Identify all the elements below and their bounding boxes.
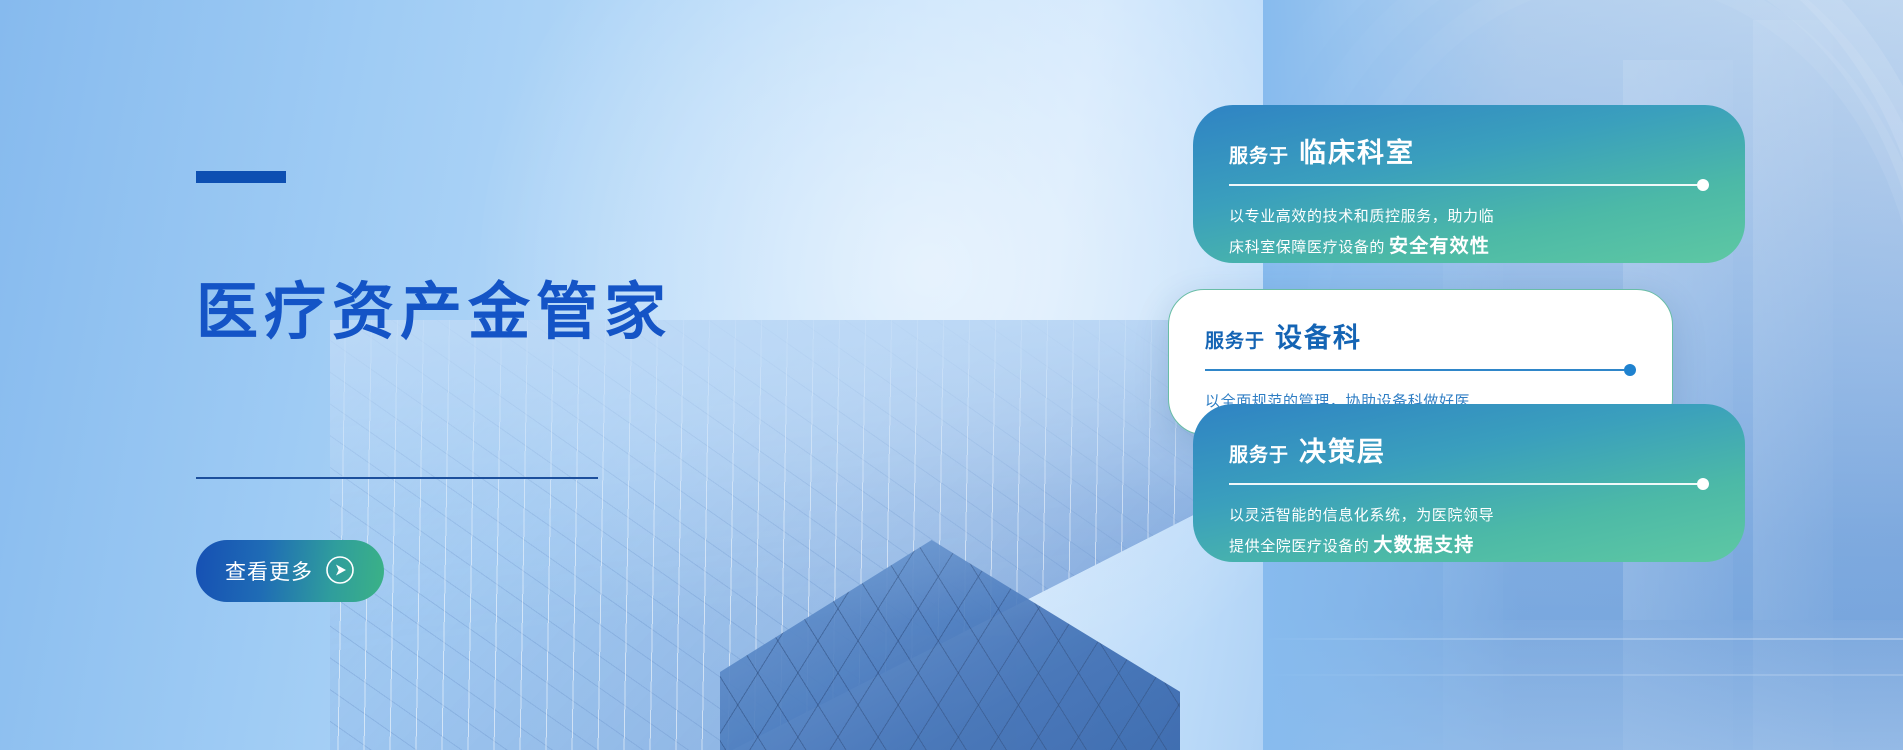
card-eyebrow-prefix: 服务于 bbox=[1205, 326, 1265, 353]
progress-knob-icon bbox=[1697, 478, 1709, 490]
progress-knob-icon bbox=[1697, 179, 1709, 191]
service-card-clinical-department[interactable]: 服务于 临床科室 以专业高效的技术和质控服务，助力临 床科室保障医疗设备的安全有… bbox=[1193, 105, 1745, 263]
card-eyebrow-prefix: 服务于 bbox=[1229, 440, 1289, 467]
card-divider-line bbox=[1205, 369, 1624, 371]
card-divider bbox=[1229, 179, 1709, 191]
hero-banner: 医疗资产金管家 查看更多 服务于 临床科室 以专业 bbox=[0, 0, 1903, 750]
card-description: 以专业高效的技术和质控服务，助力临 床科室保障医疗设备的安全有效性 bbox=[1229, 203, 1709, 265]
card-eyebrow: 服务于 设备科 bbox=[1205, 316, 1636, 355]
card-divider bbox=[1229, 478, 1709, 490]
card-divider-line bbox=[1229, 483, 1697, 485]
card-desc-highlight: 安全有效性 bbox=[1385, 236, 1490, 257]
card-eyebrow-keyword: 决策层 bbox=[1299, 430, 1386, 469]
card-eyebrow-prefix: 服务于 bbox=[1229, 141, 1289, 168]
card-divider-line bbox=[1229, 184, 1697, 186]
service-card-decision-makers[interactable]: 服务于 决策层 以灵活智能的信息化系统，为医院领导 提供全院医疗设备的大数据支持 bbox=[1193, 404, 1745, 562]
card-divider bbox=[1205, 364, 1636, 376]
card-desc-highlight: 大数据支持 bbox=[1369, 535, 1474, 556]
service-card-stack: 服务于 临床科室 以专业高效的技术和质控服务，助力临 床科室保障医疗设备的安全有… bbox=[0, 0, 1903, 750]
card-desc-line2: 提供全院医疗设备的 bbox=[1229, 538, 1369, 555]
card-eyebrow: 服务于 决策层 bbox=[1229, 430, 1709, 469]
card-desc-line1: 以灵活智能的信息化系统，为医院领导 bbox=[1229, 507, 1494, 524]
card-desc-line1: 以专业高效的技术和质控服务，助力临 bbox=[1229, 208, 1494, 225]
progress-knob-icon bbox=[1624, 364, 1636, 376]
card-eyebrow-keyword: 设备科 bbox=[1275, 316, 1362, 355]
card-desc-line2: 床科室保障医疗设备的 bbox=[1229, 239, 1385, 256]
card-eyebrow: 服务于 临床科室 bbox=[1229, 131, 1709, 170]
card-eyebrow-keyword: 临床科室 bbox=[1299, 131, 1415, 170]
card-description: 以灵活智能的信息化系统，为医院领导 提供全院医疗设备的大数据支持 bbox=[1229, 502, 1709, 564]
